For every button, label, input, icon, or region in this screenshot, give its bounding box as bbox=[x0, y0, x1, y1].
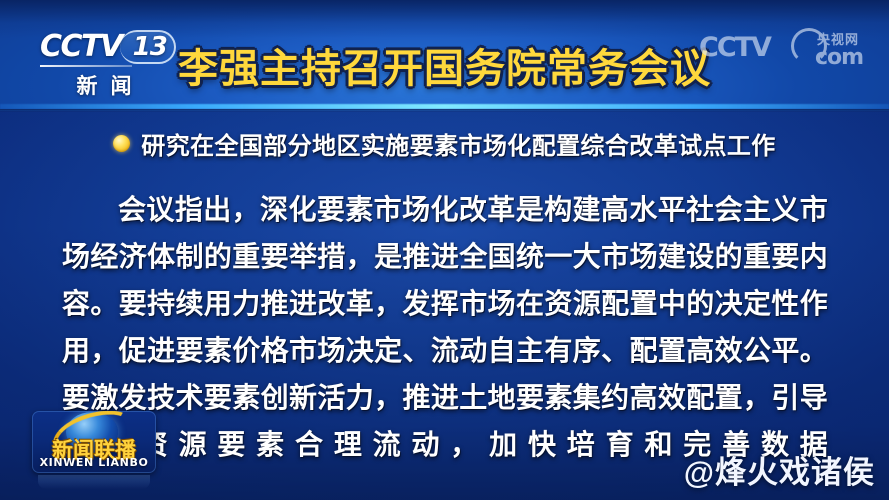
logo-reflection bbox=[38, 475, 150, 489]
band-divider bbox=[0, 104, 889, 112]
broadcast-screen: 李强主持召开国务院常务会议 研究在全国部分地区实施要素市场化配置综合改革试点工作… bbox=[0, 0, 889, 500]
body-paragraph: 会议指出，深化要素市场化改革是构建高水平社会主义市场经济体制的重要举措，是推进全… bbox=[62, 186, 828, 468]
subtitle-row: 研究在全国部分地区实施要素市场化配置综合改革试点工作 bbox=[0, 126, 889, 161]
cctvcom-tld-text: com bbox=[815, 45, 863, 70]
channel-number-badge: 13 bbox=[120, 30, 176, 64]
channel-name-text: 新闻 bbox=[40, 70, 168, 100]
cctv-wordmark: CCTV bbox=[40, 30, 122, 64]
cctv13-logo-row: CCTV 13 bbox=[40, 30, 180, 64]
cctv-underline-rule bbox=[40, 65, 132, 67]
cctv13-channel-logo: CCTV 13 新闻 bbox=[40, 30, 180, 96]
cctv-com-watermark: CCTV 央视网 com bbox=[699, 28, 875, 72]
program-name-en: XINWEN LIANBO bbox=[32, 456, 156, 469]
cctvcom-brand-text: CCTV bbox=[699, 32, 770, 63]
user-watermark-text: @烽火戏诸侯 bbox=[684, 447, 875, 492]
subtitle-text: 研究在全国部分地区实施要素市场化配置综合改革试点工作 bbox=[141, 126, 775, 161]
gold-dot-icon bbox=[113, 135, 130, 152]
xinwen-lianbo-logo: 新闻联播 XINWEN LIANBO bbox=[32, 411, 156, 473]
channel-number-text: 13 bbox=[127, 32, 167, 62]
divider-shadow-line bbox=[0, 109, 889, 112]
